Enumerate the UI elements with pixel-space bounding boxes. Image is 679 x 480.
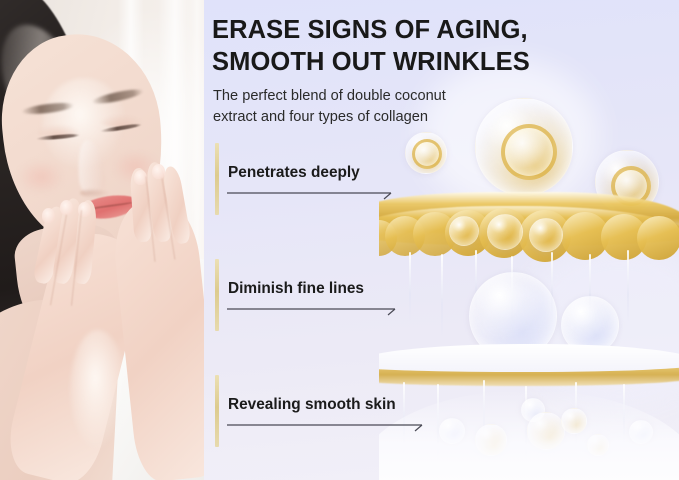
- feature-item-3: Revealing smooth skin: [213, 370, 473, 480]
- feature-label: Penetrates deeply: [228, 164, 360, 182]
- arrow-right-svg: [227, 190, 397, 200]
- page-title: ERASE SIGNS OF AGING, SMOOTH OUT WRINKLE…: [212, 14, 632, 79]
- feature-label: Diminish fine lines: [228, 280, 364, 298]
- feature-accent-bar: [215, 375, 219, 447]
- cheek-left: [18, 160, 64, 194]
- headline-line-2: SMOOTH OUT WRINKLES: [212, 46, 632, 78]
- feature-label: Revealing smooth skin: [228, 396, 396, 414]
- feature-arrow-icon: [227, 422, 429, 432]
- headline-line-1: ERASE SIGNS OF AGING,: [212, 14, 632, 46]
- feature-accent-bar: [215, 143, 219, 215]
- serum-strand-7: [627, 250, 629, 324]
- arrow-right-svg: [227, 422, 429, 432]
- model-photo: [0, 0, 204, 480]
- subtitle: The perfect blend of double coconut extr…: [213, 86, 513, 127]
- feature-accent-bar: [215, 259, 219, 331]
- serum-droplet-sheen-2: [529, 218, 563, 252]
- fingernail-left-2: [60, 200, 73, 215]
- feature-item-1: Penetrates deeply: [213, 138, 473, 254]
- feature-arrow-icon: [227, 190, 397, 200]
- skin-glow-arm: [70, 330, 126, 450]
- subtitle-line-1: The perfect blend of double coconut: [213, 86, 513, 107]
- serum-droplet-9: [637, 216, 679, 260]
- fingernail-left-1: [42, 208, 55, 223]
- feature-arrow-icon: [227, 306, 401, 316]
- product-banner: ERASE SIGNS OF AGING, SMOOTH OUT WRINKLE…: [0, 0, 679, 480]
- fingernail-right-2: [152, 164, 165, 179]
- feature-list: Penetrates deeply Diminish fine lines Re…: [213, 138, 473, 480]
- subtitle-line-2: extract and four types of collagen: [213, 107, 513, 128]
- serum-droplet-sheen-1: [487, 214, 523, 250]
- feature-item-2: Diminish fine lines: [213, 254, 473, 370]
- arrow-right-svg: [227, 306, 401, 316]
- serum-gold-ring-1: [501, 124, 557, 180]
